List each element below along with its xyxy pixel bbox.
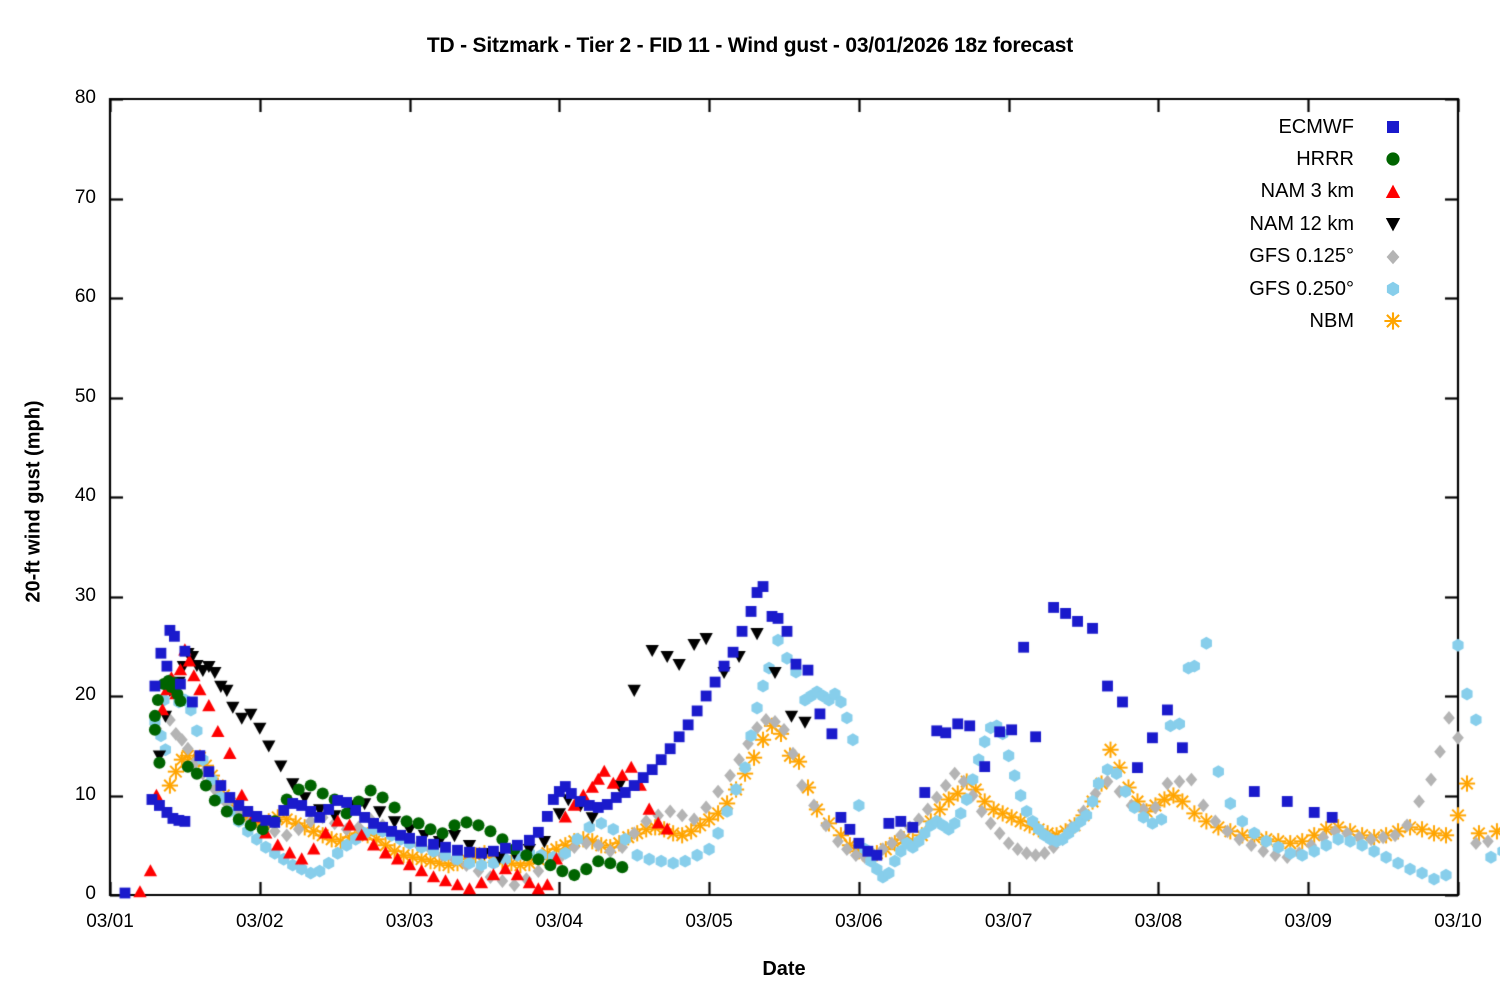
y-tick-label: 10 (26, 784, 96, 806)
x-tick-label: 03/03 (350, 911, 470, 933)
x-tick-label: 03/01 (50, 911, 170, 933)
legend-label: GFS 0.250° (1249, 278, 1382, 301)
legend-label: NAM 3 km (1261, 180, 1382, 203)
x-tick-label: 03/02 (200, 911, 320, 933)
legend-label: NAM 12 km (1250, 213, 1382, 236)
x-tick-label: 03/09 (1248, 911, 1368, 933)
y-tick-label: 40 (26, 485, 96, 507)
y-tick-label: 70 (26, 187, 96, 209)
legend-marker-square-icon (1382, 116, 1404, 138)
y-tick-label: 0 (26, 883, 96, 905)
y-tick-label: 50 (26, 386, 96, 408)
legend-label: HRRR (1296, 148, 1382, 171)
legend-marker-hexagon-icon (1382, 278, 1404, 300)
legend-marker-asterisk-icon (1382, 310, 1404, 332)
y-tick-label: 80 (26, 87, 96, 109)
legend-marker-triangle-down-icon (1382, 213, 1404, 235)
legend-label: NBM (1310, 310, 1382, 333)
legend-marker-diamond-icon (1382, 246, 1404, 268)
legend-marker-circle-icon (1382, 148, 1404, 170)
legend-item-nam-3-km[interactable]: NAM 3 km (1144, 177, 1404, 207)
legend-label: ECMWF (1278, 116, 1382, 139)
x-tick-label: 03/08 (1098, 911, 1218, 933)
x-axis-label: Date (110, 958, 1458, 981)
y-tick-label: 30 (26, 585, 96, 607)
y-tick-label: 60 (26, 286, 96, 308)
legend-item-nbm[interactable]: NBM (1144, 306, 1404, 336)
legend-label: GFS 0.125° (1249, 245, 1382, 268)
x-tick-label: 03/05 (649, 911, 769, 933)
legend-item-hrrr[interactable]: HRRR (1144, 144, 1404, 174)
legend-item-gfs-0-125[interactable]: GFS 0.125° (1144, 242, 1404, 272)
x-tick-label: 03/04 (499, 911, 619, 933)
legend-marker-triangle-up-icon (1382, 181, 1404, 203)
y-tick-label: 20 (26, 684, 96, 706)
legend-item-nam-12-km[interactable]: NAM 12 km (1144, 209, 1404, 239)
x-tick-label: 03/07 (949, 911, 1069, 933)
chart-figure: TD - Sitzmark - Tier 2 - FID 11 - Wind g… (0, 0, 1500, 1000)
legend-item-gfs-0-250[interactable]: GFS 0.250° (1144, 274, 1404, 304)
x-tick-label: 03/10 (1398, 911, 1500, 933)
legend-item-ecmwf[interactable]: ECMWF (1144, 112, 1404, 142)
x-tick-label: 03/06 (799, 911, 919, 933)
chart-title: TD - Sitzmark - Tier 2 - FID 11 - Wind g… (0, 34, 1500, 58)
